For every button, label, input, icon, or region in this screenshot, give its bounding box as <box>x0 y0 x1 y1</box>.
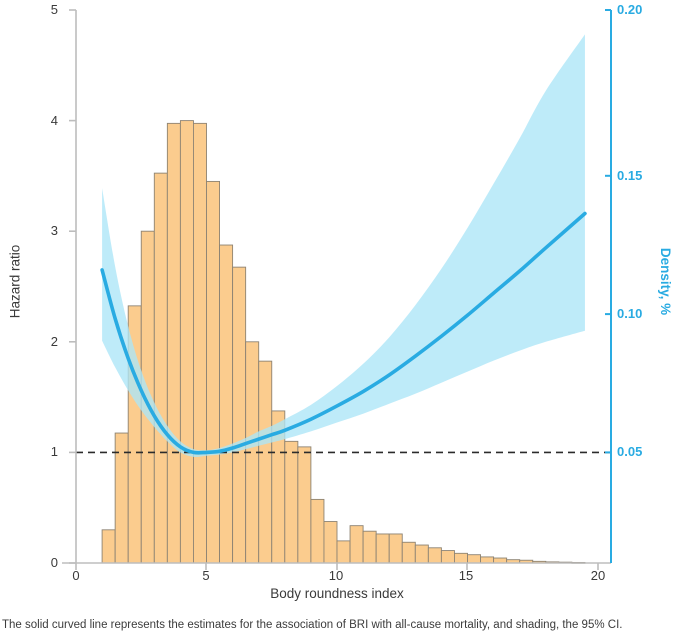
histogram-bar <box>154 173 167 563</box>
y-tick-right-010: 0.10 <box>617 306 642 321</box>
y-tick-left-3: 3 <box>36 223 58 238</box>
histogram-bar <box>350 526 363 563</box>
histogram-bar <box>259 361 272 563</box>
y-tick-left-5: 5 <box>36 2 58 17</box>
y-tick-left-2: 2 <box>36 334 58 349</box>
y-axis-right-title-text: Density, % <box>659 248 674 315</box>
histogram-bar <box>376 534 389 563</box>
histogram-bar <box>402 542 415 563</box>
histogram-bar <box>441 551 454 563</box>
x-tick-0: 0 <box>61 568 91 583</box>
y-tick-right-005: 0.05 <box>617 444 642 459</box>
figure-caption-text: The solid curved line represents the est… <box>0 618 685 632</box>
y-axis-left-spine <box>69 10 76 563</box>
histogram-bar <box>324 522 337 563</box>
y-tick-right-020: 0.20 <box>617 2 642 17</box>
y-tick-right-015: 0.15 <box>617 168 642 183</box>
histogram-bar <box>285 441 298 563</box>
figure-page: Hazard ratio Density, % Body roundness i… <box>0 0 685 644</box>
histogram-bar <box>428 548 441 563</box>
histogram-bar <box>481 557 494 563</box>
x-tick-20: 20 <box>583 568 613 583</box>
histogram-bar <box>298 447 311 563</box>
histogram-bar <box>415 545 428 563</box>
y-tick-left-0: 0 <box>36 555 58 570</box>
x-tick-5: 5 <box>191 568 221 583</box>
histogram-bar <box>193 123 206 563</box>
chart-figure: Hazard ratio Density, % Body roundness i… <box>0 0 685 614</box>
x-tick-15: 15 <box>451 568 481 583</box>
y-tick-left-1: 1 <box>36 444 58 459</box>
histogram-bar <box>311 499 324 563</box>
y-tick-left-4: 4 <box>36 113 58 128</box>
histogram-bar <box>363 531 376 563</box>
histogram-bar <box>180 121 193 563</box>
y-axis-right-title: Density, % <box>655 0 677 563</box>
histogram-bar <box>468 555 481 563</box>
histogram-bar <box>337 541 350 563</box>
plot-canvas <box>0 0 685 614</box>
histogram-bar <box>454 553 467 563</box>
histogram-bar <box>233 267 246 563</box>
histogram-bar <box>167 123 180 563</box>
histogram-bar <box>207 181 220 563</box>
figure-caption: The solid curved line represents the est… <box>0 618 685 632</box>
histogram-bar <box>102 530 115 563</box>
x-axis-title: Body roundness index <box>76 586 598 601</box>
y-axis-right-spine <box>605 10 611 563</box>
x-tick-10: 10 <box>321 568 351 583</box>
histogram-bar <box>389 534 402 563</box>
y-axis-left-title: Hazard ratio <box>5 0 25 563</box>
y-axis-left-title-text: Hazard ratio <box>8 245 23 319</box>
histogram-bar <box>220 245 233 563</box>
